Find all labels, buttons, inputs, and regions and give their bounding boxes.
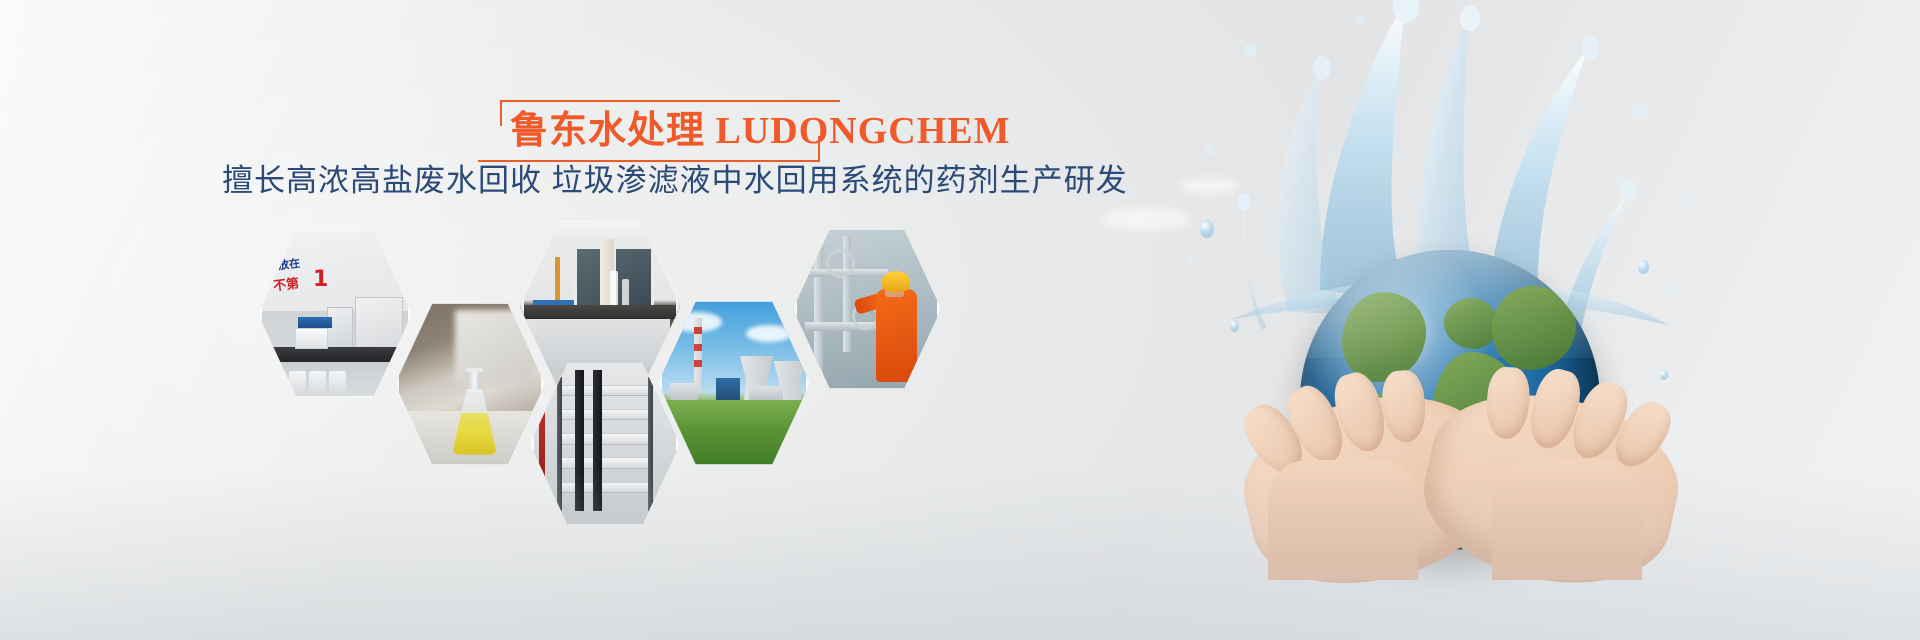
finger (1484, 366, 1531, 441)
water-droplet (1660, 370, 1668, 380)
hex-photo-membrane-skid (530, 360, 680, 528)
hero-artwork (1060, 0, 1920, 640)
hex-white-border (258, 228, 412, 400)
water-droplet (1230, 320, 1239, 332)
hex-photo-power-plant (658, 298, 810, 468)
left-wrist (1268, 460, 1418, 580)
water-droplet (1200, 220, 1214, 238)
globe-in-hands (1240, 250, 1670, 580)
hex-white-border (395, 300, 545, 468)
hex-white-border (658, 298, 810, 468)
hex-photo-flask-yellow-liquid (395, 300, 545, 468)
mist-wisp (1100, 208, 1190, 230)
hexagon-photo-cluster: 放在 不第 1 (0, 0, 1060, 640)
mist-wisp (1180, 178, 1240, 194)
hex-photo-laboratory-room: 放在 不第 1 (258, 228, 412, 400)
water-droplet (1638, 260, 1649, 274)
banner-hero: 鲁东水处理 LUDONGCHEM 擅长高浓高盐废水回收 垃圾渗滤液中水回用系统的… (0, 0, 1920, 640)
hex-photo-worker-at-valves (793, 226, 941, 392)
right-wrist (1492, 460, 1642, 580)
hex-white-border (793, 226, 941, 392)
hex-white-border (530, 360, 680, 528)
